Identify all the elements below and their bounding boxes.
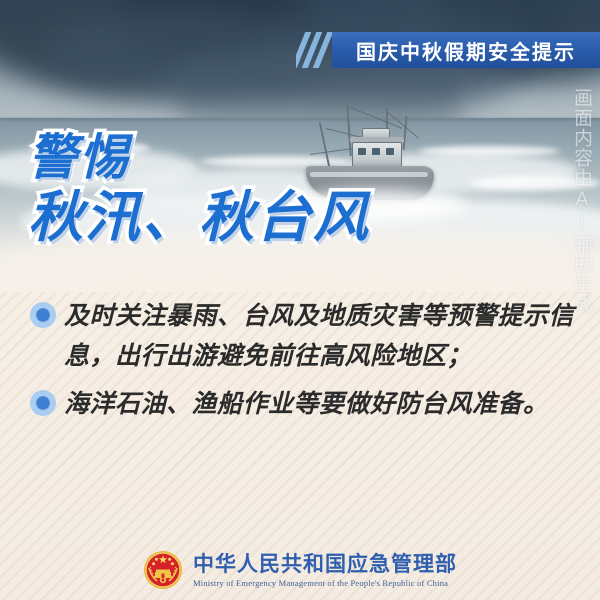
bullet-dot-icon	[30, 390, 56, 416]
banner-box: 国庆中秋假期安全提示	[332, 32, 600, 68]
ai-generated-watermark: 画面内容由AI辅助生成	[564, 88, 592, 314]
list-item: 及时关注暴雨、台风及地质灾害等预警提示信息，出行出游避免前往高风险地区；	[30, 296, 578, 376]
bullet-list: 及时关注暴雨、台风及地质灾害等预警提示信息，出行出游避免前往高风险地区； 海洋石…	[30, 296, 578, 432]
header-banner: 国庆中秋假期安全提示	[296, 32, 600, 68]
safety-poster: 画面内容由AI辅助生成 国庆中秋假期安全提示 警惕 秋汛、秋台风 及时关注暴雨、…	[0, 0, 600, 600]
list-item-text: 及时关注暴雨、台风及地质灾害等预警提示信息，出行出游避免前往高风险地区；	[64, 296, 578, 376]
list-item: 海洋石油、渔船作业等要做好防台风准备。	[30, 384, 578, 424]
footer-texts: 中华人民共和国应急管理部 Ministry of Emergency Manag…	[193, 552, 457, 589]
footer: 中华人民共和国应急管理部 Ministry of Emergency Manag…	[0, 550, 600, 590]
headline: 警惕 秋汛、秋台风	[28, 132, 568, 246]
bullet-dot-icon	[30, 302, 56, 328]
diagonal-stripes-icon	[296, 32, 336, 68]
headline-line-1: 警惕	[28, 132, 568, 184]
headline-line-2: 秋汛、秋台风	[28, 188, 568, 246]
china-national-emblem-icon	[143, 550, 183, 590]
banner-title: 国庆中秋假期安全提示	[356, 36, 576, 65]
list-item-text: 海洋石油、渔船作业等要做好防台风准备。	[64, 384, 578, 424]
ministry-name-en: Ministry of Emergency Management of the …	[193, 578, 457, 589]
ministry-name-cn: 中华人民共和国应急管理部	[193, 552, 457, 576]
